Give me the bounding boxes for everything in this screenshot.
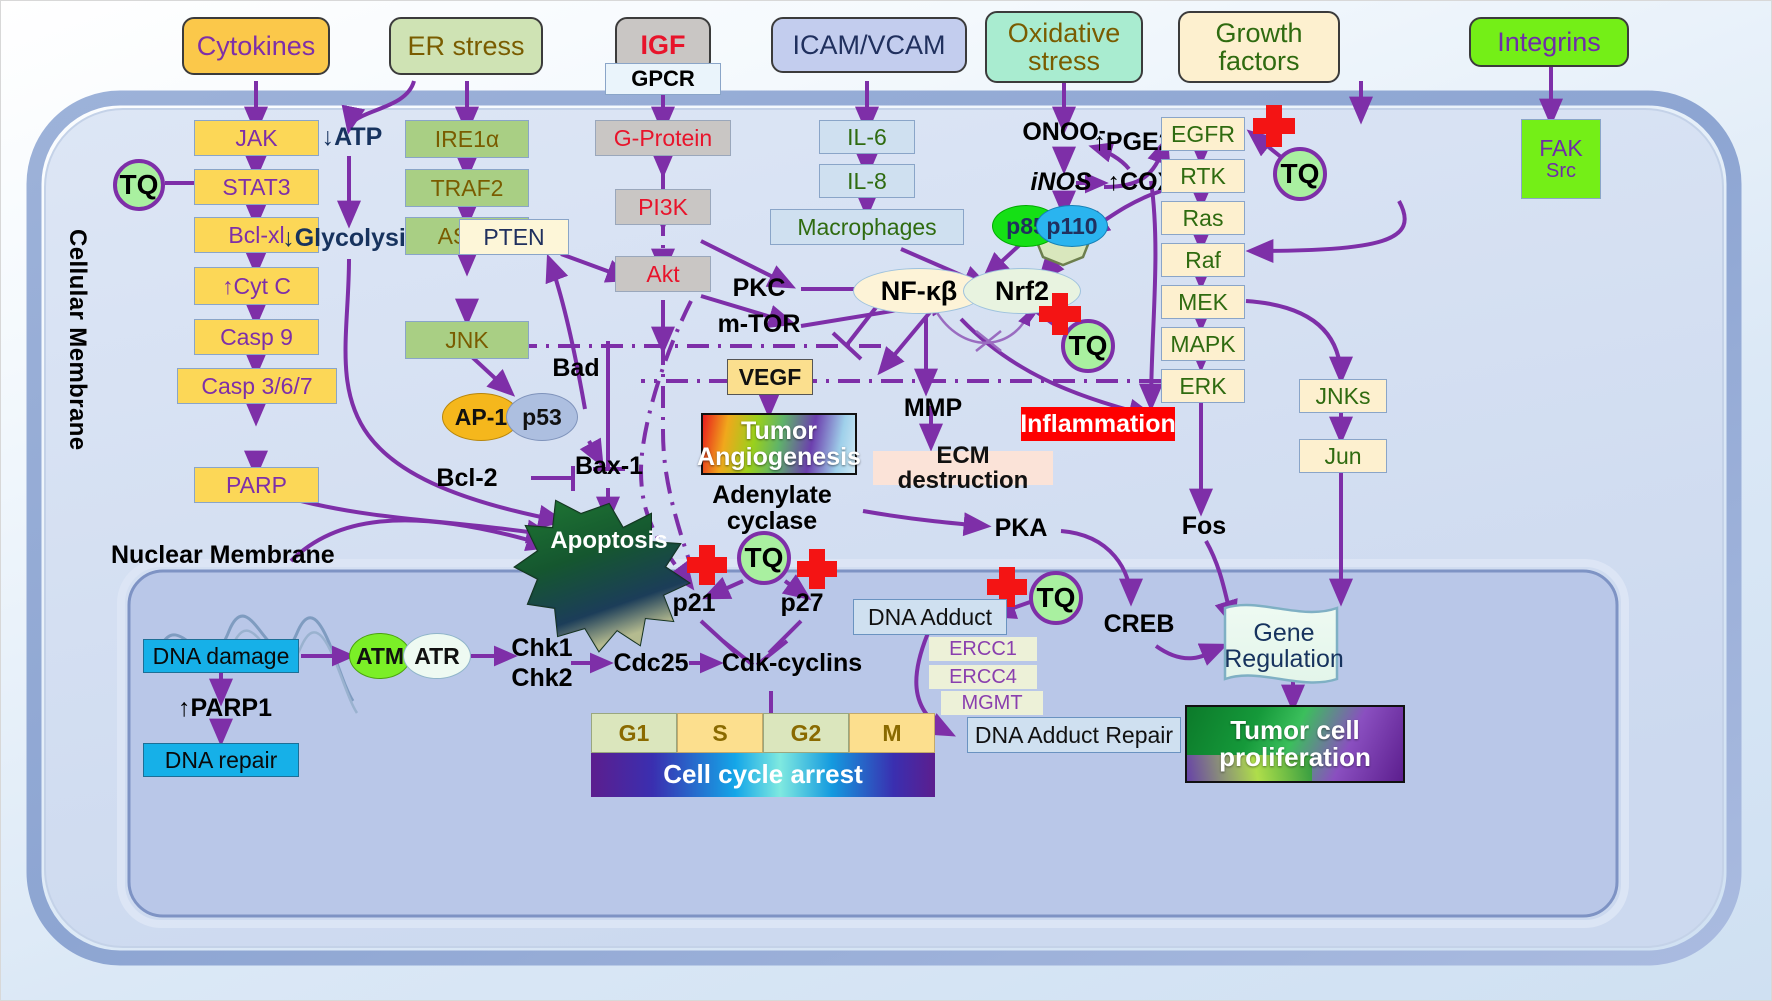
- stimulus-growth-factors-label: Growth factors: [1180, 19, 1338, 76]
- tq-badge-cellcycle[interactable]: TQ: [737, 531, 791, 585]
- node-dna-damage[interactable]: DNA damage: [143, 639, 299, 673]
- node-ras[interactable]: Ras: [1161, 201, 1245, 235]
- label-adenylate-cyclase: Adenylate cyclase: [681, 493, 863, 523]
- node-erk[interactable]: ERK: [1161, 369, 1245, 403]
- tq-badge-stat3[interactable]: TQ: [113, 159, 165, 211]
- output-inflammation: Inflammation: [1021, 407, 1175, 441]
- node-g-protein[interactable]: G-Protein: [595, 120, 731, 156]
- label-bcl2: Bcl-2: [425, 463, 509, 493]
- node-jnks[interactable]: JNKs: [1299, 379, 1387, 413]
- node-phase-s[interactable]: S: [677, 713, 763, 753]
- label-cdk-cyclins: Cdk-cyclins: [715, 649, 869, 677]
- stimulus-integrins[interactable]: Integrins: [1469, 17, 1629, 67]
- stimulus-er-stress-label: ER stress: [407, 32, 524, 60]
- node-macrophages[interactable]: Macrophages: [770, 209, 964, 245]
- tq-badge-adduct[interactable]: TQ: [1029, 571, 1083, 625]
- node-il6[interactable]: IL-6: [819, 120, 915, 154]
- label-p27: p27: [771, 589, 833, 617]
- node-egfr[interactable]: EGFR: [1161, 117, 1245, 151]
- node-pi3k[interactable]: PI3K: [615, 189, 711, 225]
- node-jnk[interactable]: JNK: [405, 321, 529, 359]
- node-dna-adduct-repair[interactable]: DNA Adduct Repair: [967, 717, 1181, 753]
- gpcr-label: GPCR: [631, 67, 695, 90]
- node-casp367[interactable]: Casp 3/6/7: [177, 368, 337, 404]
- plus-icon-p21: [687, 545, 727, 585]
- node-casp9[interactable]: Casp 9: [194, 319, 319, 355]
- node-il8[interactable]: IL-8: [819, 164, 915, 198]
- label-ercc4: ERCC4: [929, 665, 1037, 689]
- pathway-diagram: Cytokines ER stress IGF ICAM/VCAM Oxidat…: [0, 0, 1772, 1001]
- label-pka: PKA: [985, 513, 1057, 543]
- label-mtor: m-TOR: [713, 309, 805, 339]
- stimulus-oxidative-stress[interactable]: Oxidative stress: [985, 11, 1143, 83]
- node-dna-repair[interactable]: DNA repair: [143, 743, 299, 777]
- node-ire1a[interactable]: IRE1α: [405, 120, 529, 158]
- label-chk2: Chk2: [507, 665, 577, 691]
- node-stat3[interactable]: STAT3: [194, 169, 319, 205]
- label-ercc1: ERCC1: [929, 637, 1037, 661]
- label-bax1: Bax-1: [567, 451, 651, 481]
- node-atr[interactable]: ATR: [403, 633, 471, 679]
- plus-icon-egfr: [1253, 105, 1295, 147]
- label-parp1: ↑PARP1: [159, 693, 291, 723]
- node-traf2[interactable]: TRAF2: [405, 169, 529, 207]
- up-arrow-icon: ↑: [222, 274, 234, 298]
- node-p110[interactable]: p110: [1036, 205, 1108, 247]
- node-atm[interactable]: ATM: [349, 633, 411, 679]
- plus-icon-p27: [797, 549, 837, 589]
- stimulus-igf-label: IGF: [641, 31, 686, 59]
- label-creb: CREB: [1099, 609, 1179, 639]
- up-arrow-icon: ↑: [1093, 129, 1106, 155]
- node-akt[interactable]: Akt: [615, 256, 711, 292]
- node-mapk[interactable]: MAPK: [1161, 327, 1245, 361]
- cellular-membrane-label: Cellular Membrane: [63, 229, 91, 451]
- node-raf[interactable]: Raf: [1161, 243, 1245, 277]
- output-cell-cycle-arrest: Cell cycle arrest: [591, 753, 935, 797]
- stimulus-icam-vcam-label: ICAM/VCAM: [792, 31, 945, 59]
- down-arrow-icon: ↓: [322, 124, 335, 150]
- tq-badge-egfr[interactable]: TQ: [1273, 147, 1327, 201]
- label-mgmt: MGMT: [941, 691, 1043, 715]
- nuclear-membrane-label: Nuclear Membrane: [111, 541, 335, 570]
- node-phase-g1[interactable]: G1: [591, 713, 677, 753]
- node-phase-g2[interactable]: G2: [763, 713, 849, 753]
- output-gene-regulation: Gene Regulation: [1229, 613, 1339, 679]
- output-tumor-angiogenesis: Tumor Angiogenesis: [701, 413, 857, 475]
- node-phase-m[interactable]: M: [849, 713, 935, 753]
- label-bad: Bad: [536, 353, 616, 383]
- label-fos: Fos: [1169, 511, 1239, 541]
- stimulus-icam-vcam[interactable]: ICAM/VCAM: [771, 17, 967, 73]
- stimulus-oxidative-stress-label: Oxidative stress: [987, 19, 1141, 76]
- node-pten[interactable]: PTEN: [459, 219, 569, 255]
- label-chk1: Chk1: [507, 635, 577, 661]
- receptor-gpcr[interactable]: GPCR: [605, 63, 721, 95]
- up-arrow-icon: ↑: [178, 695, 191, 721]
- stimulus-cytokines-label: Cytokines: [197, 32, 316, 60]
- label-inos: iNOS: [1011, 167, 1111, 197]
- node-parp[interactable]: PARP: [194, 467, 319, 503]
- stimulus-growth-factors[interactable]: Growth factors: [1178, 11, 1340, 83]
- output-ecm-destruction: ECM destruction: [873, 451, 1053, 485]
- node-mek[interactable]: MEK: [1161, 285, 1245, 319]
- node-rtk[interactable]: RTK: [1161, 159, 1245, 193]
- stimulus-cytokines[interactable]: Cytokines: [182, 17, 330, 75]
- node-cyt-c[interactable]: ↑Cyt C: [194, 267, 319, 305]
- output-tumor-cell-proliferation: Tumor cell proliferation: [1185, 705, 1405, 783]
- label-atp: ↓ATP: [297, 121, 407, 153]
- node-jun[interactable]: Jun: [1299, 439, 1387, 473]
- label-mmp: MMP: [891, 393, 975, 423]
- node-dna-adduct[interactable]: DNA Adduct: [853, 599, 1007, 635]
- stimulus-integrins-label: Integrins: [1497, 28, 1601, 56]
- up-arrow-icon: ↑: [1108, 169, 1121, 195]
- down-arrow-icon: ↓: [282, 225, 295, 251]
- plus-icon-nrf2: [1039, 293, 1081, 335]
- node-p53[interactable]: p53: [506, 393, 578, 441]
- output-apoptosis: Apoptosis: [541, 521, 677, 561]
- label-cdc25: Cdc25: [605, 649, 697, 677]
- node-fak-src[interactable]: FAK Src: [1521, 119, 1601, 199]
- node-vegf[interactable]: VEGF: [727, 359, 813, 395]
- label-pkc: PKC: [721, 273, 797, 303]
- label-p21: p21: [663, 589, 725, 617]
- stimulus-er-stress[interactable]: ER stress: [389, 17, 543, 75]
